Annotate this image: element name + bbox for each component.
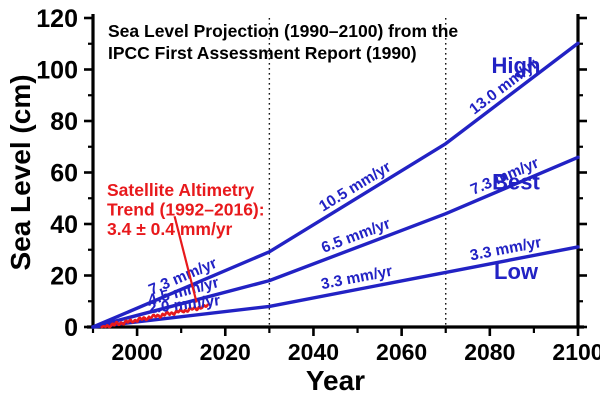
x-tick-label-2060: 2060 — [376, 339, 427, 365]
chart-figure: 200020202040206020802100 020406080100120… — [0, 0, 600, 400]
y-tick-label-120: 120 — [36, 5, 78, 33]
y-tick-label-40: 40 — [50, 211, 78, 239]
x-tick-label-2020: 2020 — [200, 339, 251, 365]
y-axis-tick-labels: 020406080100120 — [36, 5, 78, 342]
x-tick-label-2040: 2040 — [288, 339, 339, 365]
altimetry-annotation-line-1: Satellite Altimetry — [107, 180, 254, 200]
y-tick-label-60: 60 — [50, 160, 78, 188]
y-axis-title: Sea Level (cm) — [5, 74, 36, 270]
y-tick-label-0: 0 — [64, 314, 78, 342]
sea-level-projection-chart: 200020202040206020802100 020406080100120… — [0, 0, 600, 400]
x-tick-label-2100: 2100 — [552, 339, 600, 365]
x-axis-tick-labels: 200020202040206020802100 — [112, 339, 600, 365]
chart-title: Sea Level Projection (1990–2100) from th… — [108, 21, 458, 63]
chart-title-line-1: Sea Level Projection (1990–2100) from th… — [108, 21, 458, 41]
y-tick-label-100: 100 — [36, 57, 78, 85]
x-axis-title: Year — [306, 365, 365, 396]
y-tick-label-20: 20 — [50, 263, 78, 291]
chart-title-line-2: IPCC First Assessment Report (1990) — [108, 43, 417, 63]
rate-label-best-seg2: 6.5 mm/yr — [319, 215, 393, 257]
rate-label-high-seg2: 10.5 mm/yr — [316, 158, 394, 215]
altimetry-annotation-line-2: Trend (1992–2016): — [107, 200, 265, 220]
end-label-high: High — [492, 53, 541, 78]
y-tick-label-80: 80 — [50, 108, 78, 136]
altimetry-annotation-line-3: 3.4 ± 0.4 mm/yr — [107, 219, 233, 239]
end-label-low: Low — [494, 259, 539, 284]
end-label-best: Best — [492, 169, 540, 194]
x-tick-label-2000: 2000 — [112, 339, 163, 365]
x-tick-label-2080: 2080 — [464, 339, 515, 365]
